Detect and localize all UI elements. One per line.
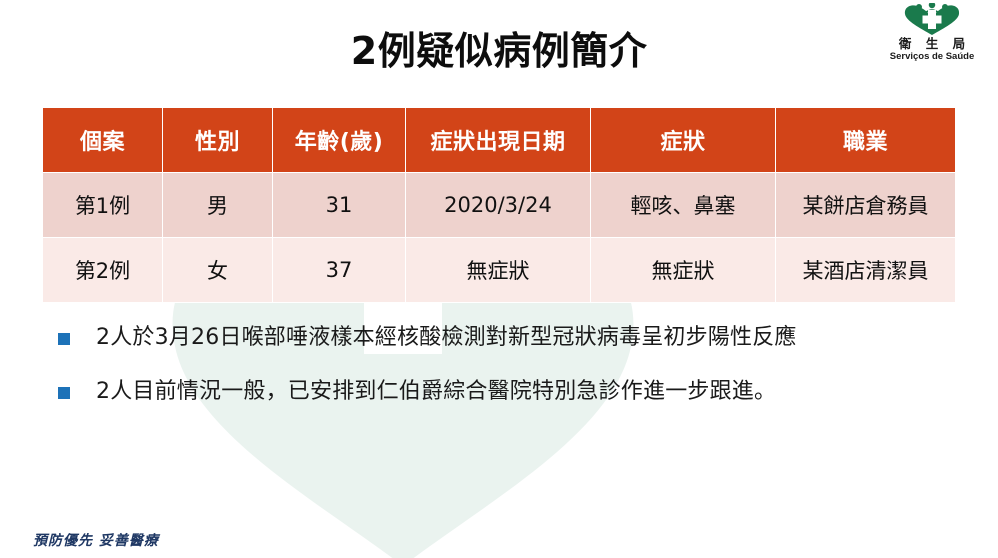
square-bullet-icon [58, 387, 70, 399]
column-header-gender: 性別 [163, 108, 273, 173]
cell-occupation: 某酒店清潔員 [776, 238, 956, 303]
cell-onset-date: 無症狀 [406, 238, 591, 303]
column-header-age: 年齡(歲) [273, 108, 406, 173]
cell-onset-date: 2020/3/24 [406, 173, 591, 238]
footer-slogan: 預防優先 妥善醫療 [33, 530, 159, 550]
cell-symptoms: 輕咳、鼻塞 [591, 173, 776, 238]
list-item: 2人目前情況一般，已安排到仁伯爵綜合醫院特別急診作進一步跟進。 [42, 376, 972, 408]
logo-name-cn: 衛 生 局 [876, 37, 988, 51]
logo-name-pt: Serviços de Saúde [876, 51, 988, 62]
health-bureau-logo: 衛 生 局 Serviços de Saúde [876, 3, 988, 65]
case-summary-table-container: 個案 性別 年齡(歲) 症狀出現日期 症狀 職業 第1例 男 31 2020/3… [42, 107, 955, 303]
column-header-occupation: 職業 [776, 108, 956, 173]
cell-case: 第1例 [43, 173, 163, 238]
page-title: 2例疑似病例簡介 [0, 28, 998, 74]
cell-case: 第2例 [43, 238, 163, 303]
bullet-list: 2人於3月26日喉部唾液樣本經核酸檢測對新型冠狀病毒呈初步陽性反應 2人目前情況… [42, 322, 972, 430]
square-bullet-icon [58, 333, 70, 345]
table-row: 第1例 男 31 2020/3/24 輕咳、鼻塞 某餅店倉務員 [43, 173, 956, 238]
cell-symptoms: 無症狀 [591, 238, 776, 303]
column-header-symptoms: 症狀 [591, 108, 776, 173]
health-heart-cross-icon [898, 3, 966, 36]
cell-age: 37 [273, 238, 406, 303]
column-header-case: 個案 [43, 108, 163, 173]
bullet-text: 2人於3月26日喉部唾液樣本經核酸檢測對新型冠狀病毒呈初步陽性反應 [96, 322, 797, 354]
cell-occupation: 某餅店倉務員 [776, 173, 956, 238]
list-item: 2人於3月26日喉部唾液樣本經核酸檢測對新型冠狀病毒呈初步陽性反應 [42, 322, 972, 354]
table-row: 第2例 女 37 無症狀 無症狀 某酒店清潔員 [43, 238, 956, 303]
bullet-text: 2人目前情況一般，已安排到仁伯爵綜合醫院特別急診作進一步跟進。 [96, 376, 776, 408]
column-header-onset-date: 症狀出現日期 [406, 108, 591, 173]
presentation-slide: 衛 生 局 Serviços de Saúde 2例疑似病例簡介 個案 性別 年… [0, 0, 998, 558]
table-header-row: 個案 性別 年齡(歲) 症狀出現日期 症狀 職業 [43, 108, 956, 173]
cell-gender: 男 [163, 173, 273, 238]
case-summary-table: 個案 性別 年齡(歲) 症狀出現日期 症狀 職業 第1例 男 31 2020/3… [42, 107, 956, 303]
cell-age: 31 [273, 173, 406, 238]
cell-gender: 女 [163, 238, 273, 303]
